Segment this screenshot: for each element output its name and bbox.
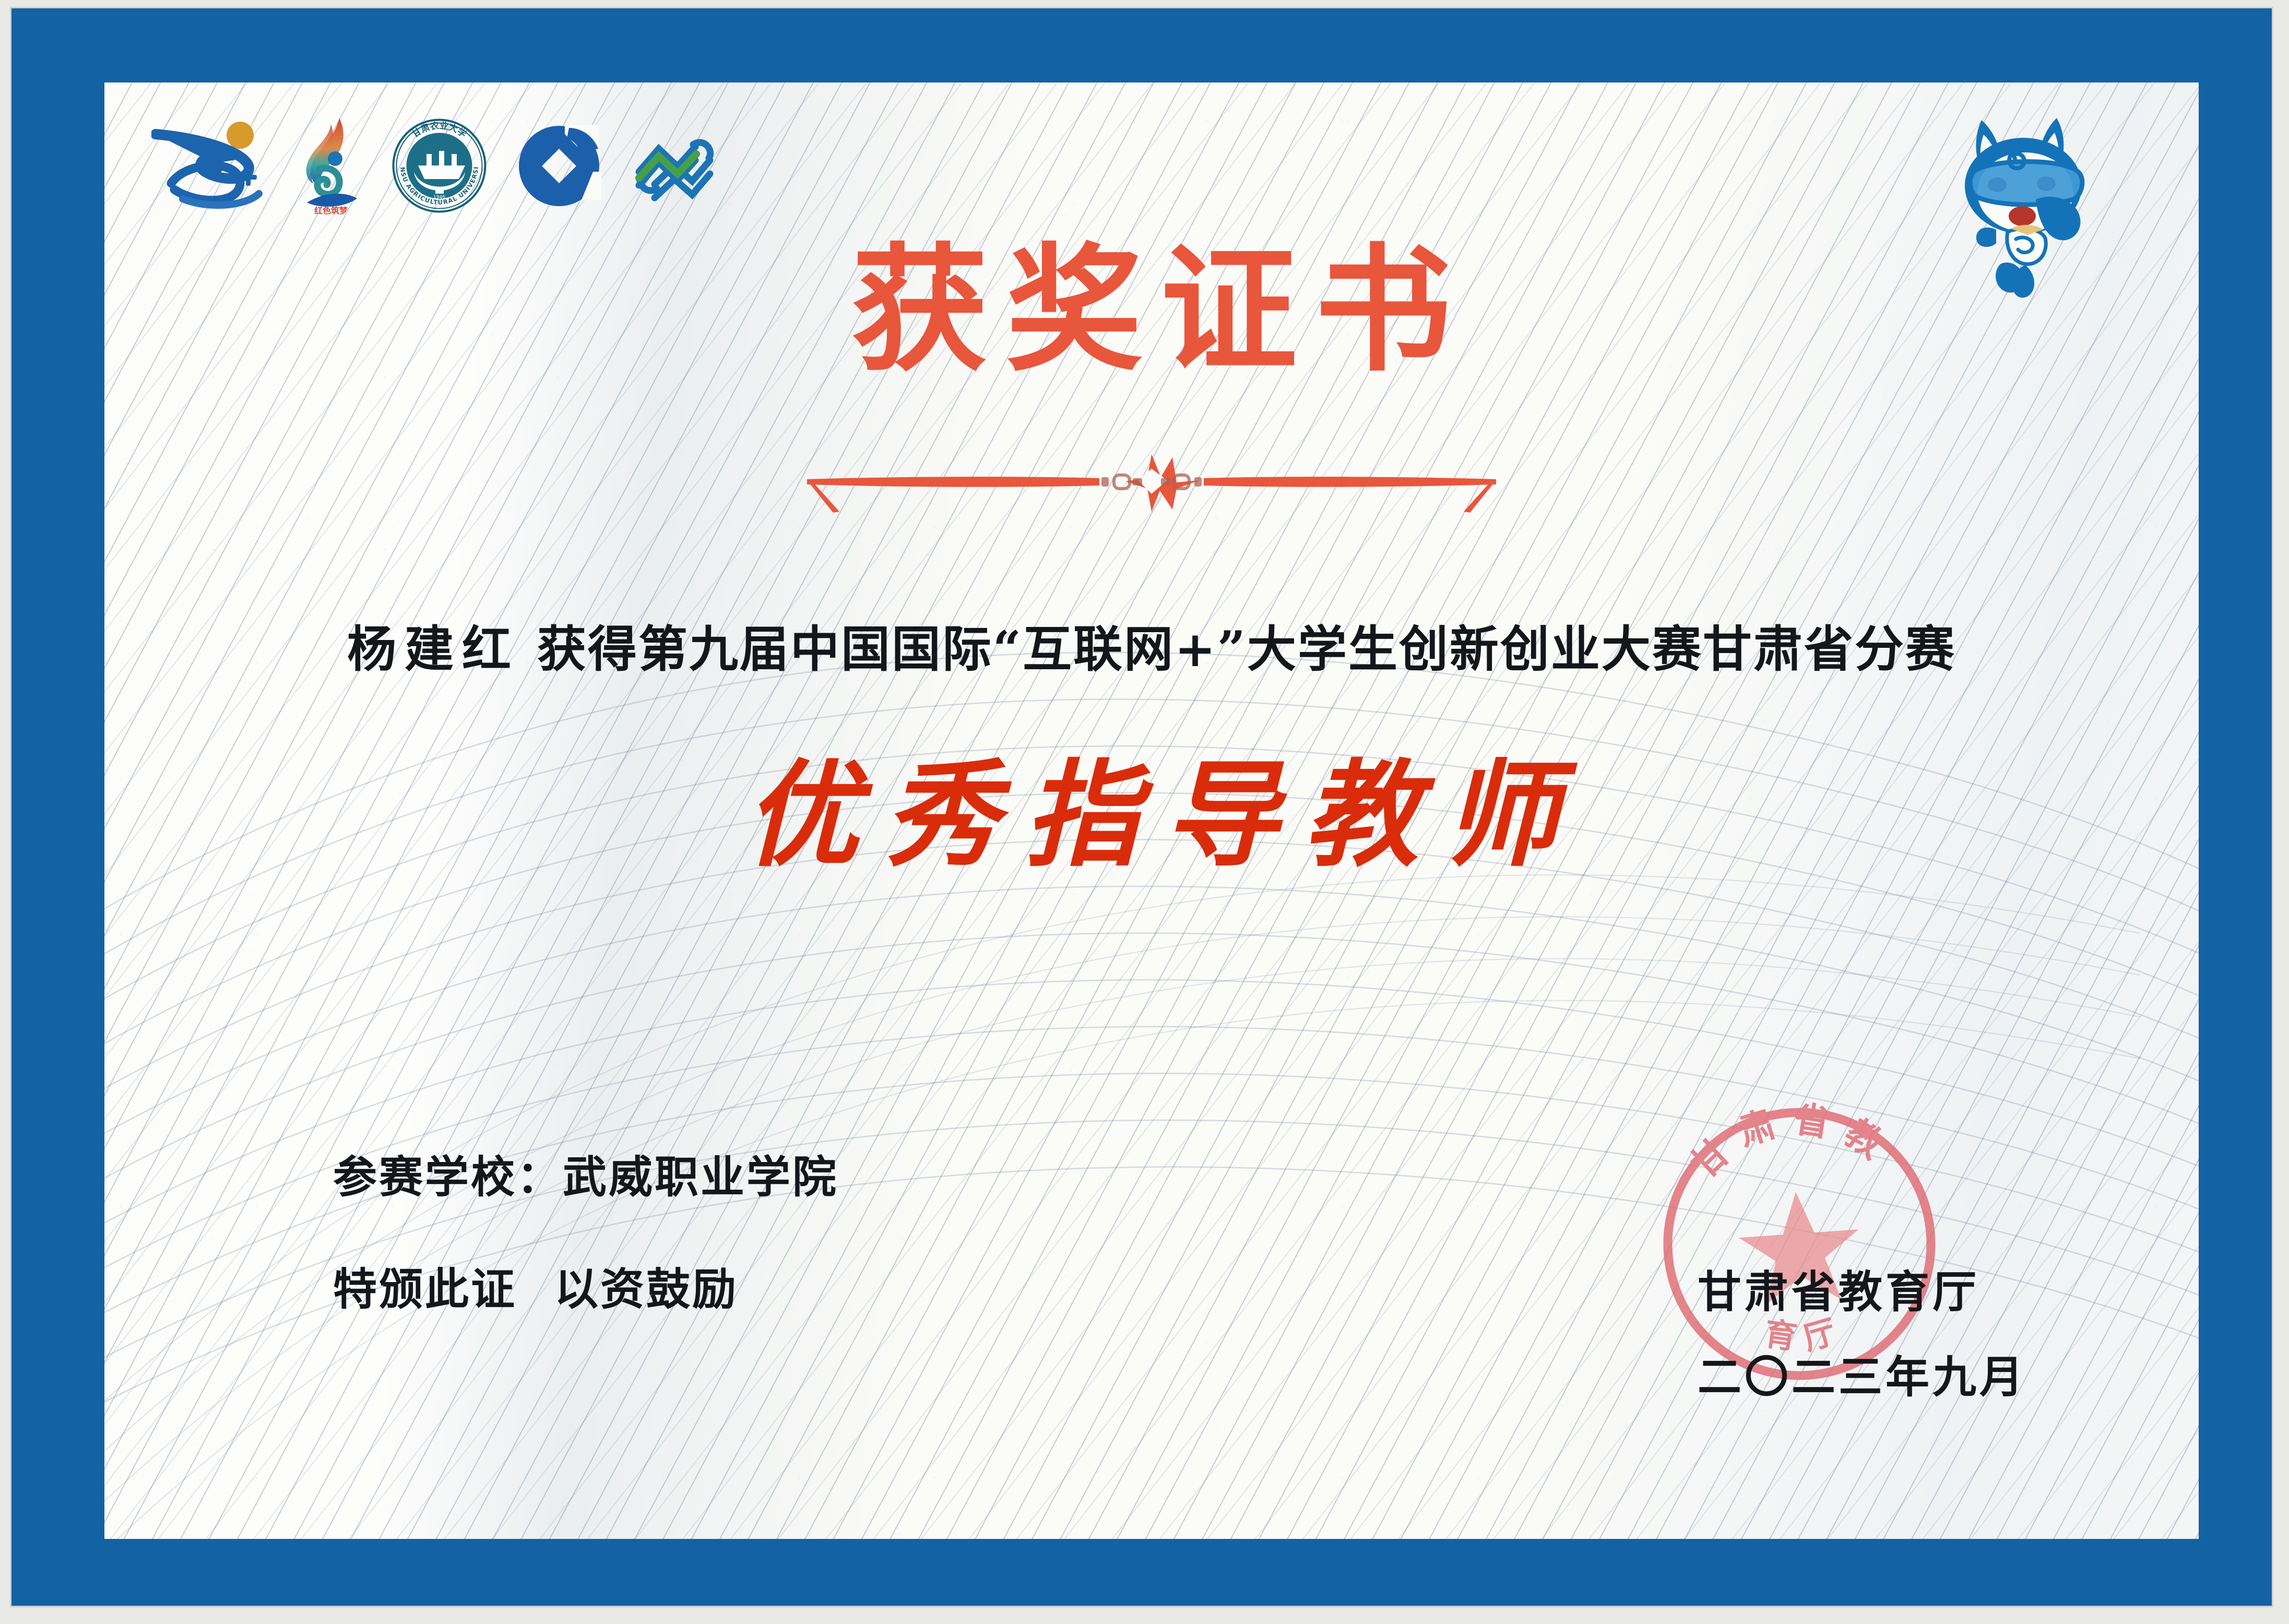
wave-s-logo xyxy=(631,122,719,210)
gansu-agricultural-university-logo: 1946 甘肃农业大学 GANSU AGRICULTURAL UNIVERSIT… xyxy=(391,117,488,214)
china-construction-bank-logo xyxy=(515,122,603,210)
ornamental-divider xyxy=(755,448,1548,516)
encouragement-part-1: 特颁此证 xyxy=(333,1263,517,1315)
recipient-name: 杨建红 xyxy=(347,621,537,678)
certificate-inner-panel: 红色筑梦 1946 甘肃农业大学 xyxy=(104,82,2199,1539)
certificate-page: 红色筑梦 1946 甘肃农业大学 xyxy=(0,0,2289,1624)
svg-text:红色筑梦: 红色筑梦 xyxy=(314,206,348,216)
sponsor-logo-row: 红色筑梦 1946 甘肃农业大学 xyxy=(151,115,719,217)
encouragement-line: 特颁此证以资鼓励 xyxy=(333,1254,738,1318)
internet-plus-competition-logo xyxy=(151,116,271,216)
red-dream-building-logo: 红色筑梦 xyxy=(299,115,364,217)
school-name: 武威职业学院 xyxy=(563,1151,838,1203)
body-prefix: 获得第九届中国国际 xyxy=(537,621,993,678)
certificate-title: 获奖证书 xyxy=(104,238,2199,382)
participating-school-line: 参赛学校：武威职业学院 xyxy=(333,1142,838,1205)
school-label: 参赛学校： xyxy=(333,1151,563,1203)
svg-text:甘肃省教: 甘肃省教 xyxy=(1679,1089,1905,1188)
body-quoted-term: “互联网+” xyxy=(993,621,1247,678)
body-suffix: 大学生创新创业大赛甘肃省分赛 xyxy=(1247,621,1956,678)
issuer-name: 甘肃省教育厅 xyxy=(1698,1257,2026,1320)
certificate-blue-border: 红色筑梦 1946 甘肃农业大学 xyxy=(11,8,2272,1606)
certificate-body-line: 杨建红获得第九届中国国际“互联网+”大学生创新创业大赛甘肃省分赛 xyxy=(104,610,2199,681)
award-title: 优秀指导教师 xyxy=(104,751,2199,879)
encouragement-part-2: 以资鼓励 xyxy=(554,1263,738,1315)
issuer-block: 甘肃省教育厅 二〇二三年九月 xyxy=(1698,1257,2026,1405)
issue-date: 二〇二三年九月 xyxy=(1698,1342,2026,1405)
